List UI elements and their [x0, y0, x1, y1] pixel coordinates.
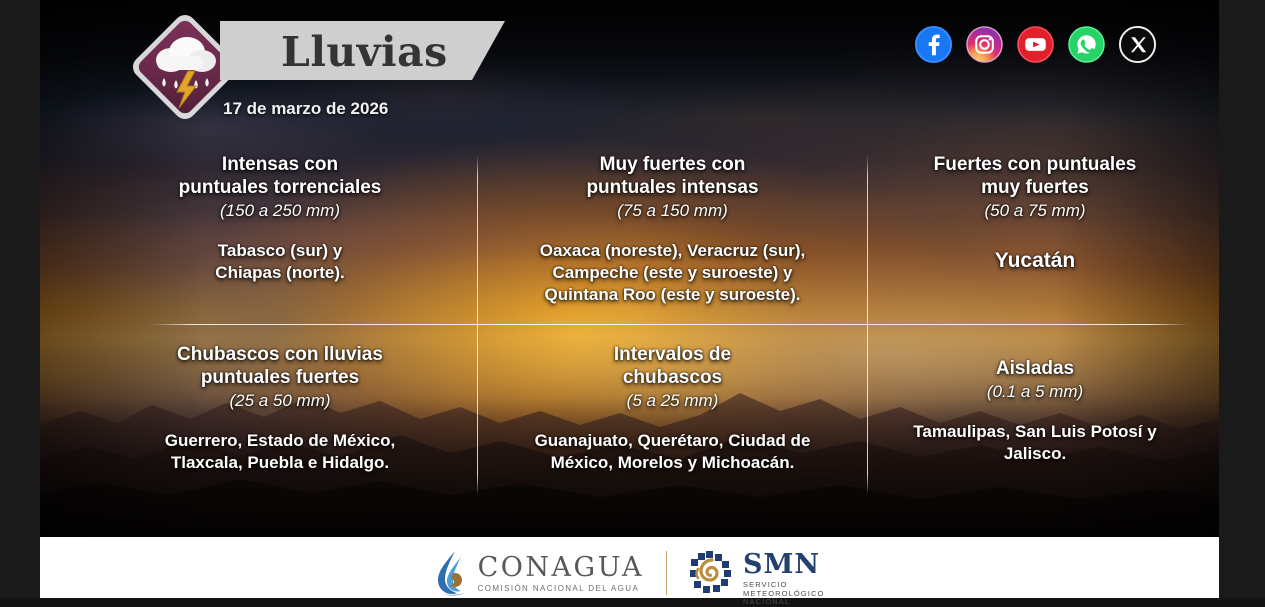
cell-states-line3: Quintana Roo (este y suroeste).: [545, 285, 801, 304]
x-twitter-icon[interactable]: [1118, 25, 1157, 64]
conagua-subtitle: COMISIÓN NACIONAL DEL AGUA: [478, 584, 644, 594]
logo-separator: [666, 551, 667, 595]
cell-category: Intervalos de chubascos: [500, 343, 845, 389]
cell-states-line2: México, Morelos y Michoacán.: [551, 453, 795, 472]
forecast-cell-aisladas: Aisladas (0.1 a 5 mm) Tamaulipas, San Lu…: [880, 343, 1190, 465]
cell-category-line1: Chubascos con lluvias: [177, 344, 383, 365]
cell-states-line2: Chiapas (norte).: [215, 263, 344, 282]
smn-subtitle: SERVICIO METEOROLÓGICO NACIONAL: [743, 581, 824, 607]
cell-range: (0.1 a 5 mm): [880, 381, 1190, 403]
cell-states: Tamaulipas, San Luis Potosí y Jalisco.: [880, 421, 1190, 465]
column-divider-2: [867, 155, 868, 495]
conagua-text: CONAGUA COMISIÓN NACIONAL DEL AGUA: [478, 554, 644, 594]
letterbox-left: [0, 0, 40, 598]
cell-states-line2: Tlaxcala, Puebla e Hidalgo.: [171, 453, 389, 472]
cell-states-line1: Tabasco (sur) y: [218, 241, 342, 260]
cell-category-line1: Muy fuertes con: [600, 154, 746, 175]
cell-category: Chubascos con lluvias puntuales fuertes: [110, 343, 450, 389]
cell-states-line1: Oaxaca (noreste), Veracruz (sur),: [540, 241, 806, 260]
cell-states: Oaxaca (noreste), Veracruz (sur), Campec…: [500, 240, 845, 306]
row-divider: [150, 324, 1190, 325]
whatsapp-icon[interactable]: [1067, 25, 1106, 64]
cell-range: (25 a 50 mm): [110, 390, 450, 412]
cell-states: Guanajuato, Querétaro, Ciudad de México,…: [500, 430, 845, 474]
cell-category: Muy fuertes con puntuales intensas: [500, 153, 845, 199]
page-title: Lluvias: [281, 27, 496, 77]
cell-category-line2: puntuales intensas: [586, 177, 758, 198]
water-drop-eagle-icon: [435, 549, 469, 599]
cell-states-line1: Tamaulipas, San Luis Potosí y: [913, 422, 1156, 441]
cell-category-line2: puntuales torrenciales: [179, 177, 382, 198]
column-divider-1: [477, 155, 478, 495]
forecast-cell-intensas: Intensas con puntuales torrenciales (150…: [110, 153, 450, 284]
forecast-cell-fuertes: Fuertes con puntuales muy fuertes (50 a …: [880, 153, 1190, 272]
cell-states: Tabasco (sur) y Chiapas (norte).: [110, 240, 450, 284]
cell-category-line2: chubascos: [623, 367, 722, 388]
cell-range: (75 a 150 mm): [500, 200, 845, 222]
letterbox-right: [1219, 0, 1265, 598]
footer-logos: CONAGUA COMISIÓN NACIONAL DEL AGUA: [40, 537, 1219, 598]
cell-category-line1: Intervalos de: [614, 344, 731, 365]
forecast-cell-intervalos: Intervalos de chubascos (5 a 25 mm) Guan…: [500, 343, 845, 474]
cell-range: (50 a 75 mm): [880, 200, 1190, 222]
cell-states-line2: Jalisco.: [1004, 444, 1066, 463]
cell-states: Yucatán: [880, 250, 1190, 272]
cell-states-line1: Guerrero, Estado de México,: [165, 431, 396, 450]
cell-states-line1: Guanajuato, Querétaro, Ciudad de: [535, 431, 811, 450]
forecast-grid: Intensas con puntuales torrenciales (150…: [110, 145, 1190, 495]
smn-subtitle-line3: NACIONAL: [743, 597, 790, 606]
cell-category-line1: Fuertes con puntuales: [934, 154, 1137, 175]
social-links: [914, 25, 1157, 64]
facebook-icon[interactable]: [914, 25, 953, 64]
cell-category-line1: Intensas con: [222, 154, 338, 175]
smn-name: SMN: [743, 551, 824, 579]
conagua-logo: CONAGUA COMISIÓN NACIONAL DEL AGUA: [435, 549, 644, 599]
conagua-name: CONAGUA: [478, 554, 644, 582]
cell-states-line2: Campeche (este y suroeste) y: [553, 263, 793, 282]
slide-stage: Lluvias 17 de marzo de 2026: [0, 0, 1265, 598]
cell-category: Intensas con puntuales torrenciales: [110, 153, 450, 199]
cell-category-line2: muy fuertes: [981, 177, 1089, 198]
cell-category: Fuertes con puntuales muy fuertes: [880, 153, 1190, 199]
weather-slide: Lluvias 17 de marzo de 2026: [40, 0, 1219, 537]
youtube-icon[interactable]: [1016, 25, 1055, 64]
instagram-icon[interactable]: [965, 25, 1004, 64]
cell-range: (150 a 250 mm): [110, 200, 450, 222]
aztec-spiral-icon: [689, 549, 735, 599]
forecast-cell-chubascos-fuertes: Chubascos con lluvias puntuales fuertes …: [110, 343, 450, 474]
forecast-date: 17 de marzo de 2026: [223, 99, 388, 119]
cell-category: Aisladas: [880, 357, 1190, 380]
cell-states: Guerrero, Estado de México, Tlaxcala, Pu…: [110, 430, 450, 474]
cell-category-line2: puntuales fuertes: [201, 367, 359, 388]
cell-range: (5 a 25 mm): [500, 390, 845, 412]
forecast-cell-muy-fuertes: Muy fuertes con puntuales intensas (75 a…: [500, 153, 845, 306]
logo-row: CONAGUA COMISIÓN NACIONAL DEL AGUA: [435, 537, 825, 607]
